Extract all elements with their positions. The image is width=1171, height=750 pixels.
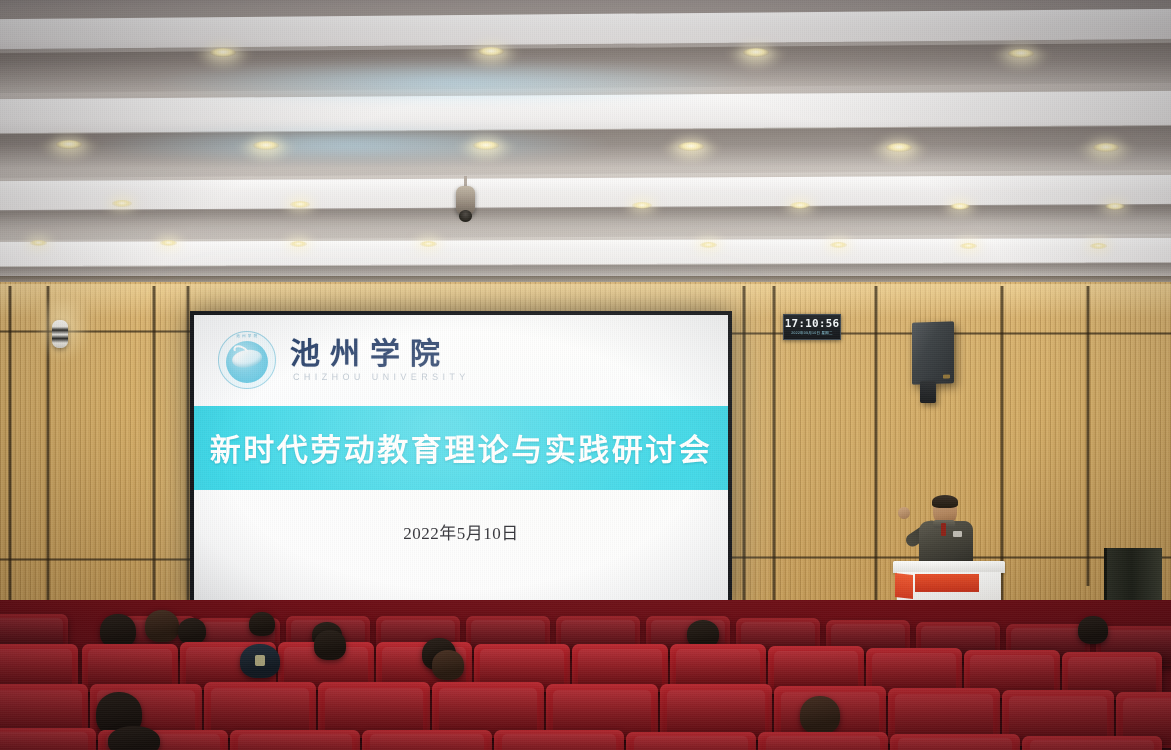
wall-seam: [1086, 286, 1090, 586]
audience-head: [1078, 616, 1108, 644]
slide-title-band: 新时代劳动教育理论与实践研讨会: [194, 406, 728, 491]
ceiling-recess-band: [0, 204, 1171, 241]
seat[interactable]: [230, 730, 360, 750]
audience-head: [432, 650, 464, 680]
recessed-downlight: [830, 242, 847, 248]
audience-head: [100, 614, 136, 648]
recessed-downlight: [210, 48, 236, 57]
ceiling-daylight-patch: [90, 125, 610, 165]
recessed-downlight: [478, 47, 504, 56]
recessed-downlight: [30, 240, 47, 246]
recessed-downlight: [1008, 49, 1034, 58]
university-name-block: 池州学院 CHIZHOU UNIVERSITY: [290, 339, 470, 382]
presenter-tie: [941, 523, 946, 536]
seat[interactable]: [758, 732, 888, 750]
university-name-cn: 池州学院: [290, 339, 470, 371]
recessed-downlight: [1105, 203, 1125, 210]
auditorium-photo: 池 州 学 院 池州学院 CHIZHOU UNIVERSITY 新时代劳动教育理…: [0, 0, 1171, 750]
audience-seating: [0, 600, 1171, 750]
audience-head: [314, 630, 346, 660]
recessed-downlight: [160, 240, 177, 246]
recessed-downlight: [290, 241, 307, 247]
wall-seam: [742, 286, 746, 646]
wall-sconce-icon: [52, 320, 68, 348]
presenter: [905, 495, 991, 567]
recessed-downlight: [253, 141, 279, 150]
wall-seam: [0, 558, 192, 561]
recessed-downlight: [632, 202, 652, 209]
audience-head: [145, 610, 179, 642]
university-emblem-icon: 池 州 学 院: [218, 331, 276, 389]
recessed-downlight: [1090, 243, 1107, 249]
seat[interactable]: [362, 730, 492, 750]
seat[interactable]: [494, 730, 624, 750]
timestamp-date: 2022年05月10日 星期二: [791, 332, 833, 336]
presentation-slide: 池 州 学 院 池州学院 CHIZHOU UNIVERSITY 新时代劳动教育理…: [194, 315, 728, 607]
wall-seam: [0, 330, 192, 333]
recessed-downlight: [112, 200, 132, 207]
slide-title-text: 新时代劳动教育理论与实践研讨会: [210, 425, 713, 470]
camera-timestamp-overlay: 17:10:56 2022年05月10日 星期二: [783, 314, 841, 340]
projection-screen: 池 州 学 院 池州学院 CHIZHOU UNIVERSITY 新时代劳动教育理…: [190, 311, 732, 611]
slide-footer: 2022年5月10日: [194, 490, 728, 607]
seat[interactable]: [0, 728, 96, 750]
ceiling-projector-icon: [456, 186, 475, 216]
ceiling: [0, 0, 1171, 300]
recessed-downlight: [290, 201, 310, 208]
projector-lens-icon: [459, 210, 472, 222]
audience-head: [249, 612, 275, 636]
presenter-hand: [898, 507, 910, 519]
presenter-badge: [953, 531, 962, 537]
recessed-downlight: [56, 140, 82, 149]
recessed-downlight: [960, 243, 977, 249]
timestamp-time: 17:10:56: [785, 318, 840, 329]
audience-head: [108, 726, 160, 750]
podium-accent-left: [895, 573, 913, 599]
recessed-downlight: [420, 241, 437, 247]
wall-speaker-icon: [912, 321, 954, 384]
audience-head: [178, 618, 206, 644]
university-name-en: CHIZHOU UNIVERSITY: [290, 372, 470, 382]
seat[interactable]: [626, 732, 756, 750]
recessed-downlight: [473, 141, 499, 150]
slide-header: 池 州 学 院 池州学院 CHIZHOU UNIVERSITY: [194, 315, 728, 406]
audience-head-with-cap: [240, 644, 280, 678]
slide-date-text: 2022年5月10日: [403, 519, 519, 544]
speaker-brand-badge: [943, 374, 950, 378]
seat[interactable]: [890, 734, 1020, 750]
podium-accent-panel: [915, 574, 979, 592]
recessed-downlight: [950, 203, 970, 210]
recessed-downlight: [886, 143, 912, 152]
recessed-downlight: [678, 142, 704, 151]
recessed-downlight: [743, 48, 769, 57]
audience-head: [800, 696, 840, 734]
recessed-downlight: [790, 202, 810, 209]
recessed-downlight: [1093, 143, 1119, 152]
emblem-micro-text: 池 州 学 院: [218, 334, 276, 339]
recessed-downlight: [700, 242, 717, 248]
presenter-hair: [932, 495, 958, 508]
speaker-mount-bracket: [920, 381, 936, 403]
seat[interactable]: [1022, 736, 1162, 750]
wall-seam: [874, 286, 878, 626]
wall-seam: [772, 286, 776, 646]
